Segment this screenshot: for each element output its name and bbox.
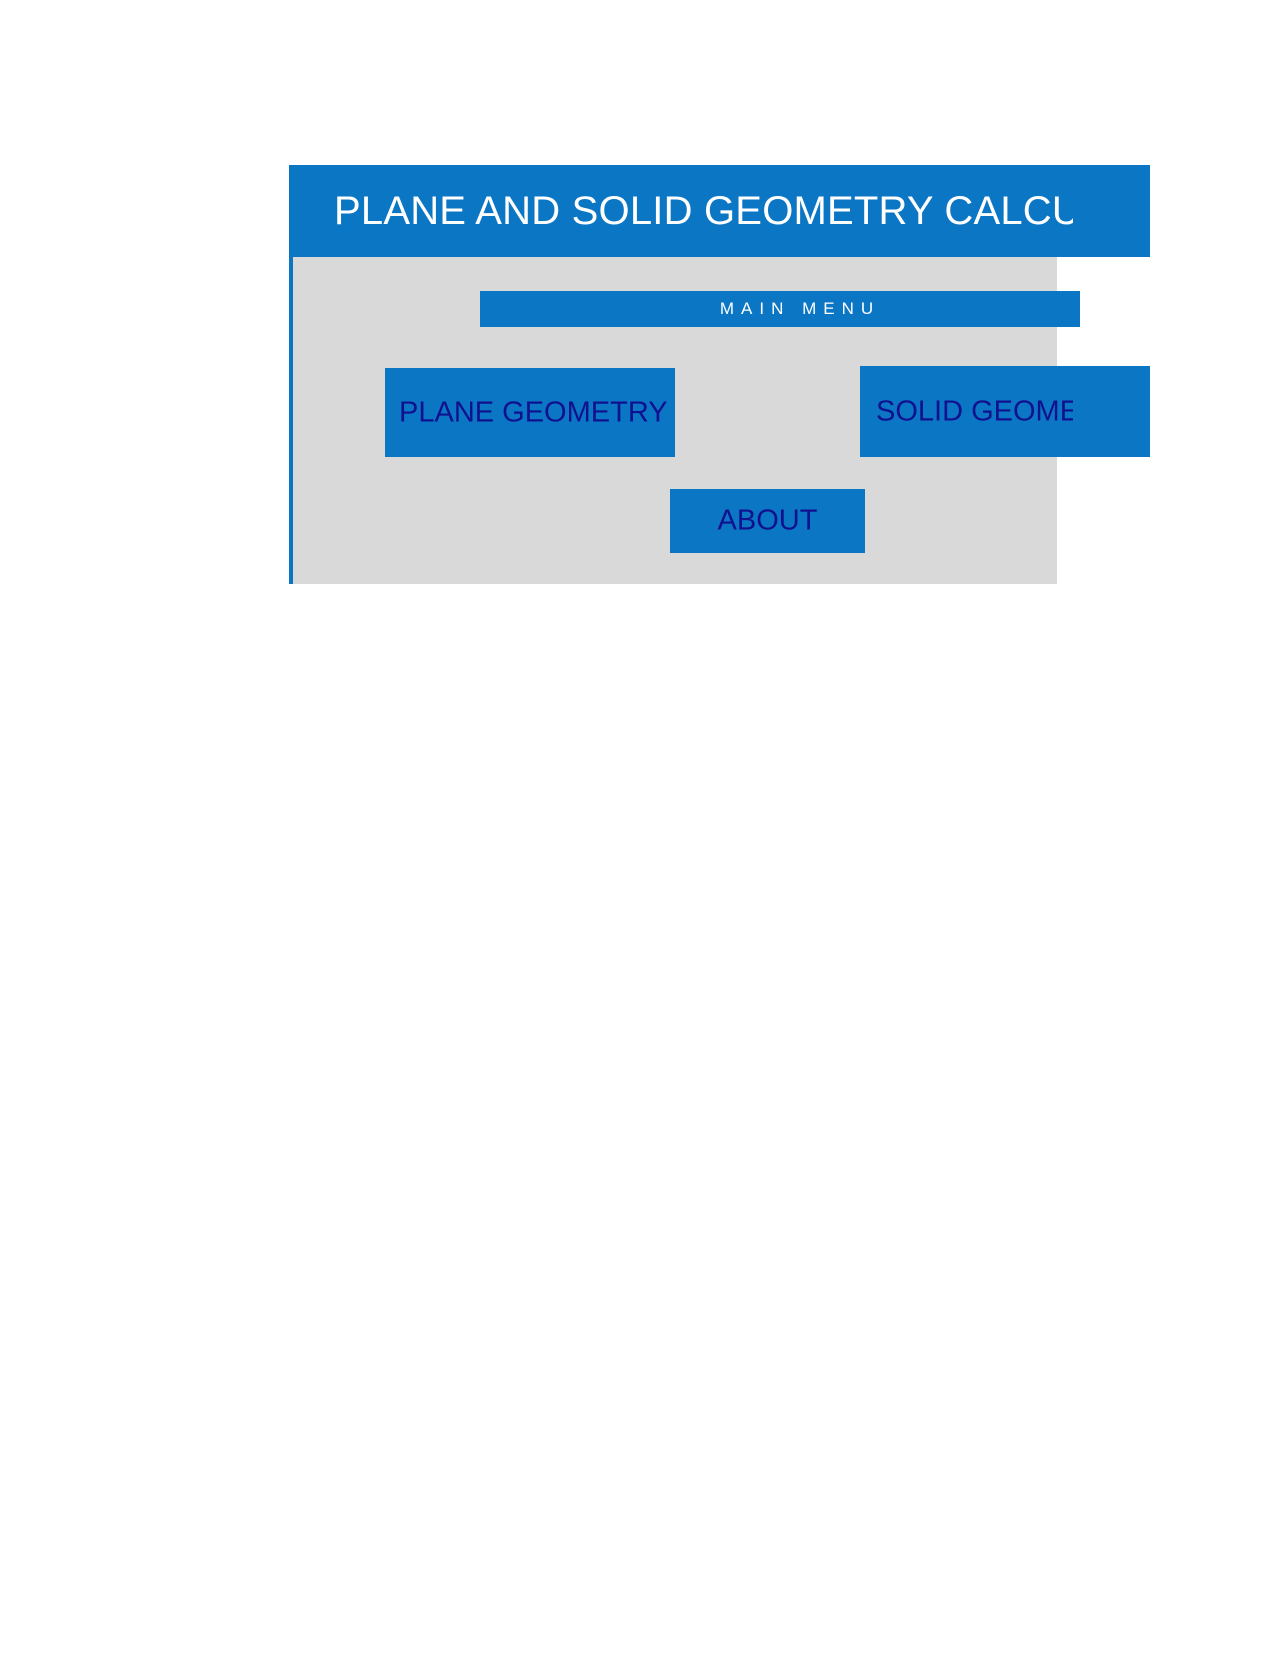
about-button-label: ABOUT xyxy=(670,507,865,536)
about-button[interactable]: ABOUT xyxy=(670,489,865,553)
plane-geometry-button-label: PLANE GEOMETRY xyxy=(399,398,668,427)
solid-geometry-label-clip: SOLID GEOMETRY xyxy=(860,366,1073,457)
app-title-clip: PLANE AND SOLID GEOMETRY CALCULATOR xyxy=(289,165,1073,257)
solid-geometry-button[interactable]: SOLID GEOMETRY xyxy=(860,366,1150,457)
app-title-bar: PLANE AND SOLID GEOMETRY CALCULATOR xyxy=(289,165,1150,257)
solid-geometry-button-label: SOLID GEOMETRY xyxy=(876,397,1073,426)
main-menu-banner-label: MAIN MENU xyxy=(480,299,1080,319)
page-title: PLANE AND SOLID GEOMETRY CALCULATOR xyxy=(334,191,1073,231)
plane-geometry-button[interactable]: PLANE GEOMETRY xyxy=(385,368,675,457)
main-menu-banner: MAIN MENU xyxy=(480,291,1080,327)
geometry-calculator-window: PLANE AND SOLID GEOMETRY CALCULATOR MAIN… xyxy=(289,165,1057,584)
